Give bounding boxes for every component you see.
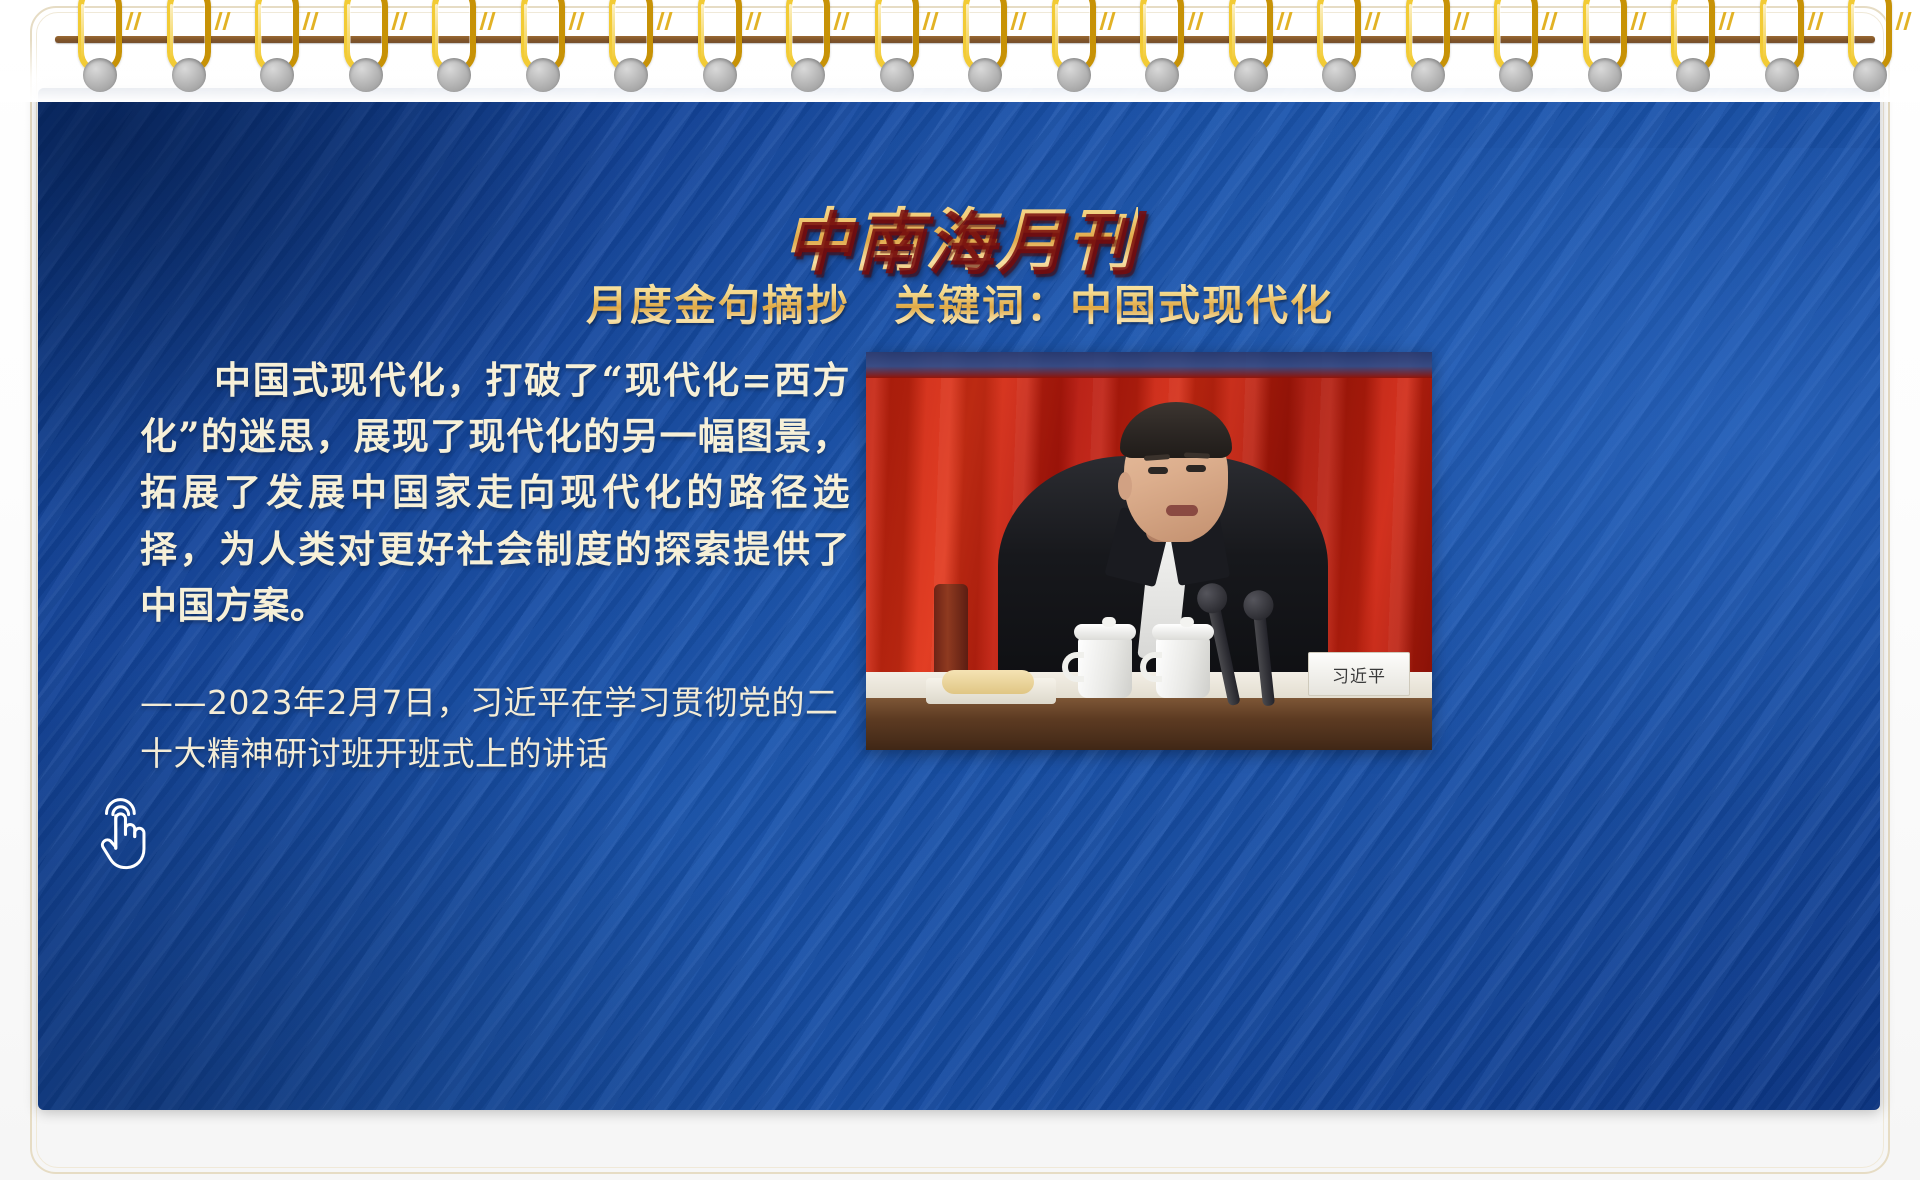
leader-photo: 习近平 xyxy=(866,352,1432,750)
spiral-ring-tick xyxy=(1895,12,1903,30)
subtitle-container: 月度金句摘抄 关键词：中国式现代化 xyxy=(0,272,1920,333)
binding-hole xyxy=(83,58,117,92)
spiral-ring-tick xyxy=(222,12,230,30)
spiral-ring-tick xyxy=(1541,12,1549,30)
binding-hole xyxy=(968,58,1002,92)
page-root: 中南海月刊 月度金句摘抄 关键词：中国式现代化 中国式现代化，打破了“现代化=西… xyxy=(0,0,1920,1180)
spiral-ring-tick xyxy=(656,12,664,30)
spiral-ring-tick xyxy=(1195,12,1203,30)
spiral-ring-tick xyxy=(1630,12,1638,30)
binding-hole xyxy=(260,58,294,92)
binding-hole xyxy=(791,58,825,92)
name-plate: 习近平 xyxy=(1308,652,1410,696)
binding-hole xyxy=(1765,58,1799,92)
binding-hole xyxy=(172,58,206,92)
spiral-ring-tick xyxy=(1010,12,1018,30)
spiral-ring-tick xyxy=(1107,12,1115,30)
curtain-top-band xyxy=(866,352,1432,378)
quote-column: 中国式现代化，打破了“现代化=西方化”的迷思，展现了现代化的另一幅图景，拓展了发… xyxy=(140,352,850,779)
spiral-ring-tick xyxy=(391,12,399,30)
bread-item xyxy=(942,670,1034,694)
spiral-ring-tick xyxy=(1461,12,1469,30)
spiral-ring-tick xyxy=(1018,12,1026,30)
cup-lid-knob xyxy=(1180,617,1194,627)
spiral-ring-tick xyxy=(1099,12,1107,30)
spiral-ring-tick xyxy=(1453,12,1461,30)
binding-hole xyxy=(1499,58,1533,92)
spiral-ring-tick xyxy=(841,12,849,30)
binding-hole xyxy=(1322,58,1356,92)
spiral-ring-tick xyxy=(833,12,841,30)
binding-hole xyxy=(349,58,383,92)
spiral-ring-tick xyxy=(133,12,141,30)
spiral-ring-tick xyxy=(1718,12,1726,30)
spiral-ring-tick xyxy=(1903,12,1911,30)
spiral-ring-tick xyxy=(576,12,584,30)
figure-eye-left xyxy=(1148,467,1168,474)
spiral-ring-tick xyxy=(214,12,222,30)
binding-hole xyxy=(1588,58,1622,92)
binding-hole xyxy=(880,58,914,92)
spiral-ring-tick xyxy=(1276,12,1284,30)
spiral-ring-tick xyxy=(1364,12,1372,30)
spiral-ring-tick xyxy=(1726,12,1734,30)
spiral-ring-tick xyxy=(302,12,310,30)
spiral-ring-tick xyxy=(1638,12,1646,30)
spiral-ring-tick xyxy=(1284,12,1292,30)
spiral-ring-tick xyxy=(1807,12,1815,30)
tap-hand-icon[interactable] xyxy=(88,790,162,874)
quote-text: 中国式现代化，打破了“现代化=西方化”的迷思，展现了现代化的另一幅图景，拓展了发… xyxy=(140,352,850,633)
binding-hole xyxy=(526,58,560,92)
spiral-ring-tick xyxy=(310,12,318,30)
spiral-ring-tick xyxy=(479,12,487,30)
spiral-ring-tick xyxy=(399,12,407,30)
title-container: 中南海月刊 xyxy=(0,185,1920,284)
spiral-ring-tick xyxy=(664,12,672,30)
binding-hole xyxy=(1411,58,1445,92)
binding-hole xyxy=(703,58,737,92)
binding-hole xyxy=(1234,58,1268,92)
spiral-ring-tick xyxy=(1372,12,1380,30)
binding-hole xyxy=(1057,58,1091,92)
spiral-ring-tick xyxy=(487,12,495,30)
spiral-ring-tick xyxy=(125,12,133,30)
tea-cup xyxy=(1156,636,1210,698)
spiral-ring-tick xyxy=(745,12,753,30)
binding-hole xyxy=(1676,58,1710,92)
spiral-ring-tick xyxy=(1549,12,1557,30)
tap-hand-glyph xyxy=(88,790,162,874)
binding-hole xyxy=(1145,58,1179,92)
spiral-ring-tick xyxy=(1815,12,1823,30)
page-title: 中南海月刊 xyxy=(782,185,1137,284)
table-surface xyxy=(866,698,1432,750)
figure-eye-right xyxy=(1186,465,1206,472)
spiral-ring-tick xyxy=(568,12,576,30)
quote-attribution: ——2023年2月7日，习近平在学习贯彻党的二十大精神研讨班开班式上的讲话 xyxy=(140,677,850,779)
spiral-ring-tick xyxy=(922,12,930,30)
spiral-binding xyxy=(0,0,1920,104)
cup-handle xyxy=(1140,652,1162,682)
spiral-ring-tick xyxy=(1187,12,1195,30)
binding-hole xyxy=(614,58,648,92)
spiral-ring-tick xyxy=(930,12,938,30)
spiral-ring-tick xyxy=(753,12,761,30)
figure-ear xyxy=(1118,472,1132,500)
name-plate-label: 习近平 xyxy=(1332,662,1386,687)
figure-mouth xyxy=(1166,505,1198,516)
cup-handle xyxy=(1062,652,1084,682)
cup-lid-knob xyxy=(1102,617,1116,627)
binding-hole xyxy=(437,58,471,92)
page-subtitle: 月度金句摘抄 关键词：中国式现代化 xyxy=(586,272,1334,333)
tea-cup xyxy=(1078,636,1132,698)
binding-hole xyxy=(1853,58,1887,92)
